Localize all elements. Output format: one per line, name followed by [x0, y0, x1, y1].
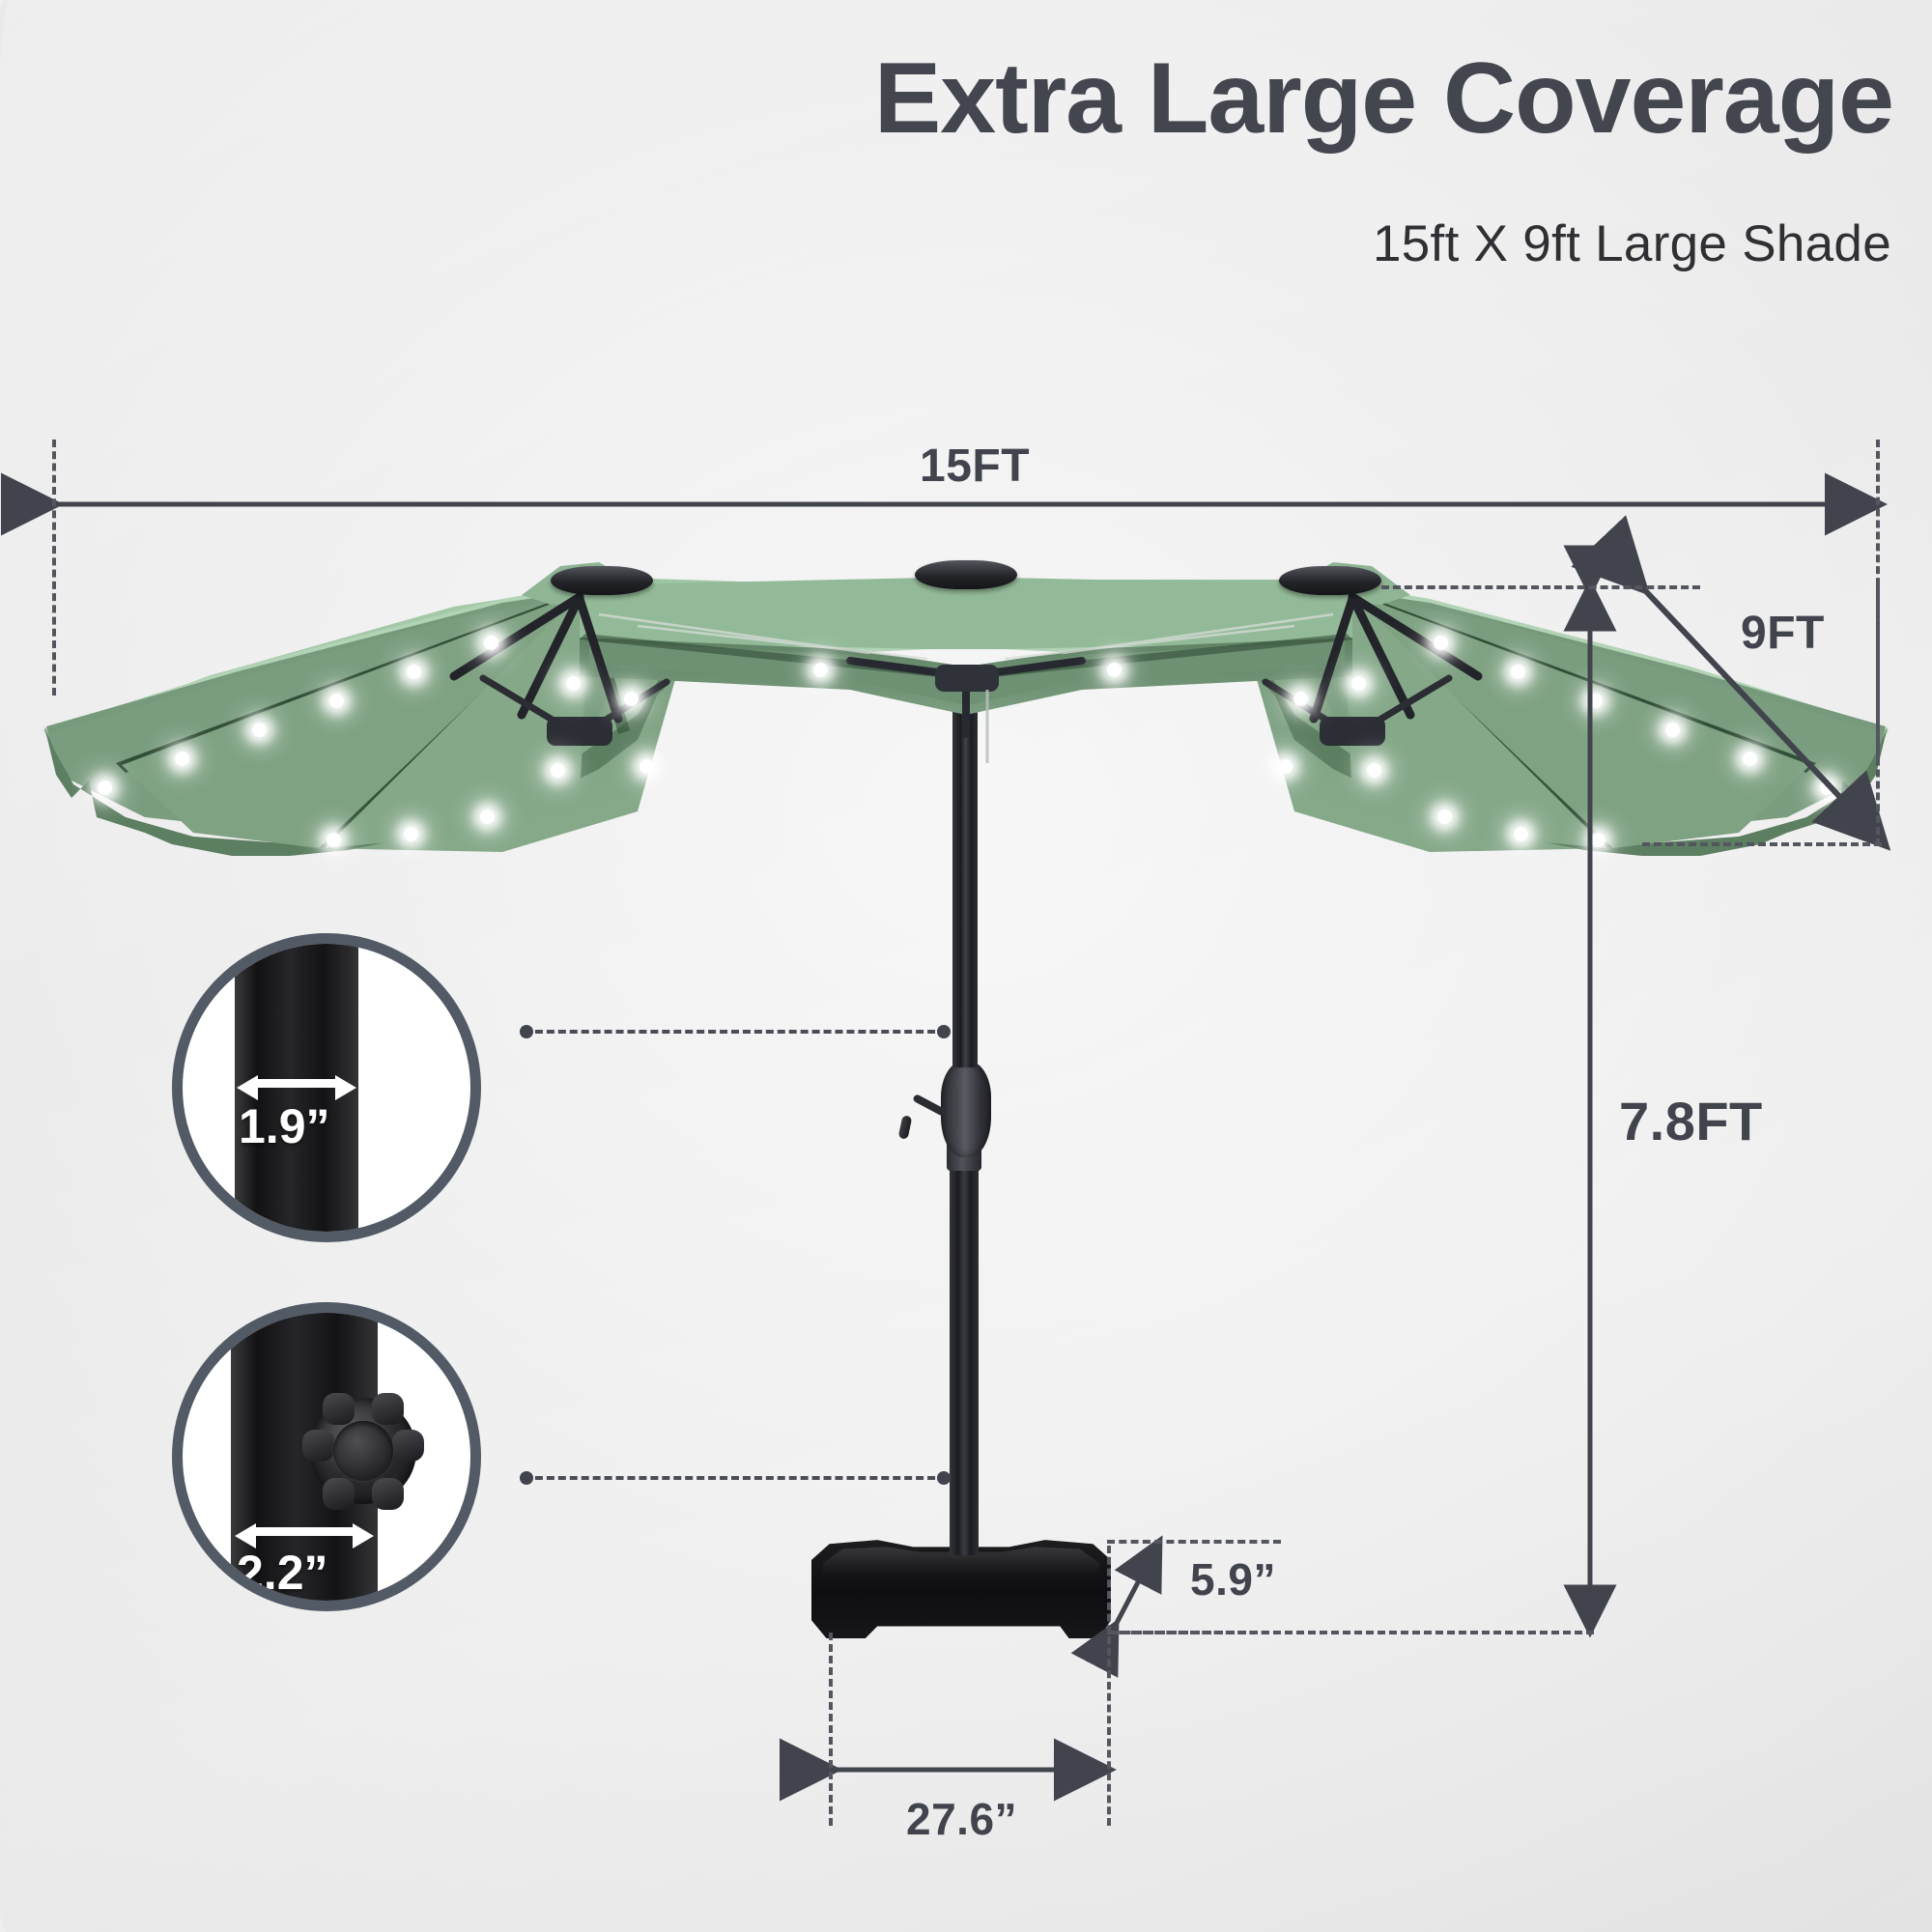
led-light-icon: [252, 723, 267, 737]
led-light-icon: [1351, 676, 1366, 691]
base-top-guide: [1107, 1540, 1281, 1544]
led-light-icon: [484, 636, 498, 650]
extension-line-left: [52, 440, 56, 696]
pole-diameter-arrow: [256, 1079, 337, 1088]
depth-guide-bottom: [1642, 842, 1882, 846]
led-light-icon: [624, 692, 639, 706]
depth-guide-vertical: [1876, 585, 1880, 846]
solar-panel-cap-icon: [1279, 566, 1381, 595]
base-width-label: 27.6”: [906, 1793, 1017, 1845]
solar-panel-cap-icon: [915, 560, 1017, 589]
leader-line-lower-pole: [524, 1476, 947, 1480]
led-light-icon: [1367, 763, 1381, 778]
led-light-icon: [1293, 692, 1308, 706]
led-light-icon: [1665, 723, 1680, 737]
led-light-icon: [1437, 810, 1452, 824]
led-light-icon: [813, 663, 828, 677]
crank-handle-grip: [898, 1115, 913, 1140]
led-light-icon: [327, 833, 341, 847]
leader-line-pole-diameter: [524, 1030, 947, 1034]
led-light-icon: [404, 827, 418, 841]
leader-dot-right: [937, 1025, 951, 1038]
led-light-icon: [1434, 636, 1448, 650]
leader-dot-left: [520, 1471, 533, 1485]
led-light-icon: [639, 759, 654, 774]
led-light-icon: [1743, 752, 1757, 766]
width-dimension-label: 15FT: [920, 440, 1030, 493]
led-light-icon: [1511, 665, 1525, 679]
leader-dot-left: [520, 1025, 533, 1038]
led-light-icon: [1514, 827, 1528, 841]
pole-diameter-callout: 1.9”: [172, 933, 481, 1242]
led-light-icon: [1820, 781, 1834, 795]
depth-dimension-label: 9FT: [1741, 607, 1825, 660]
leader-dot-right: [937, 1471, 951, 1485]
led-light-icon: [329, 694, 344, 708]
led-light-icon: [480, 810, 495, 824]
led-light-icon: [1591, 833, 1605, 847]
led-light-icon: [1278, 759, 1293, 774]
base-height-label: 5.9”: [1190, 1553, 1276, 1605]
led-light-icon: [98, 781, 112, 795]
led-light-icon: [407, 665, 421, 679]
umbrella-pole-upper: [952, 705, 978, 1067]
tightening-knob-icon: [310, 1398, 416, 1504]
height-dimension-label: 7.8FT: [1619, 1090, 1763, 1152]
led-light-icon: [551, 763, 565, 778]
led-light-icon: [566, 676, 581, 691]
lower-pole-diameter-value: 2.2”: [237, 1545, 328, 1601]
height-measure-line: [1588, 591, 1592, 1633]
led-light-icon: [1107, 663, 1122, 677]
solar-panel-cap-icon: [551, 566, 653, 595]
depth-guide-top: [1381, 585, 1700, 589]
led-light-icon: [175, 752, 189, 766]
lower-pole-callout: 2.2”: [172, 1302, 481, 1611]
lower-pole-diameter-arrow: [254, 1527, 355, 1536]
pole-diameter-value: 1.9”: [239, 1098, 330, 1154]
umbrella-pole-lower: [950, 1140, 979, 1555]
base-right-guide: [1107, 1546, 1111, 1826]
base-left-guide: [829, 1633, 833, 1826]
base-bottom-guide: [1107, 1631, 1281, 1634]
crank-housing: [941, 1061, 991, 1157]
